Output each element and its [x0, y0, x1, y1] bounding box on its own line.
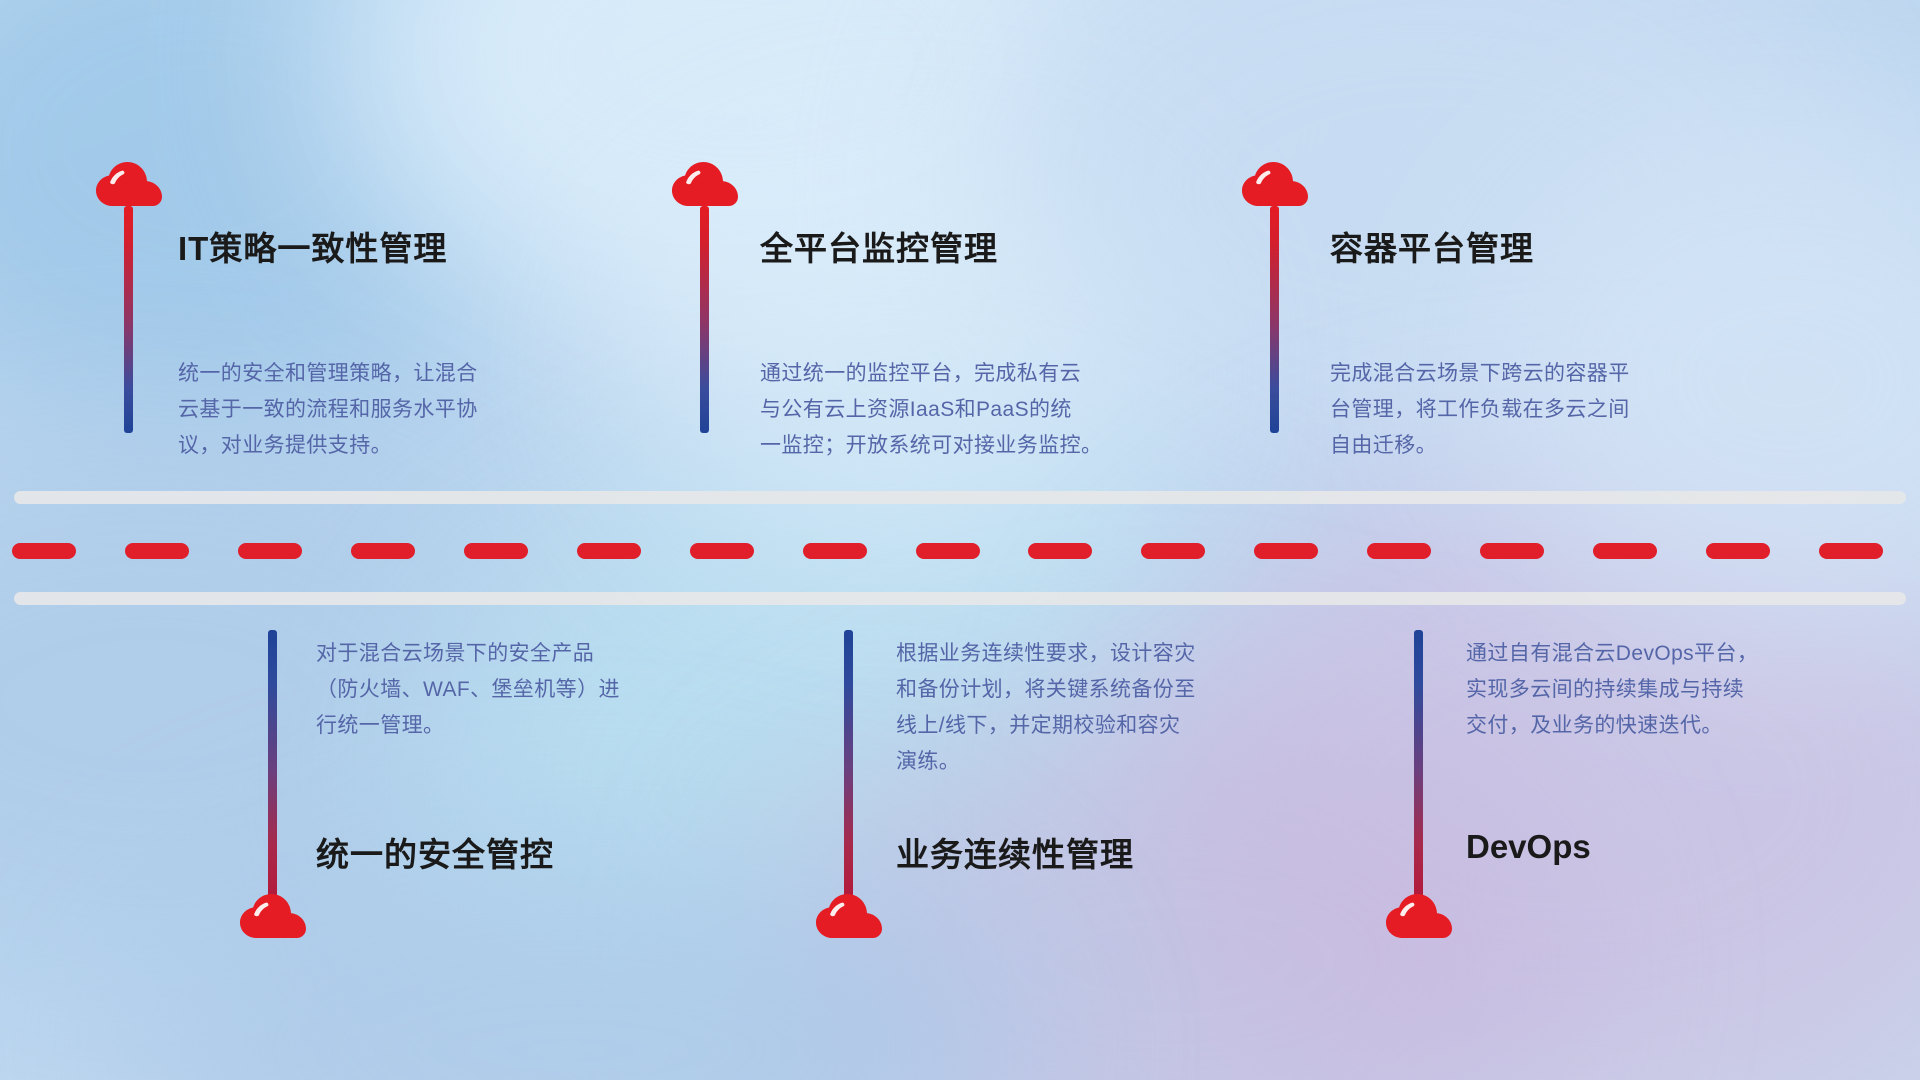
- road-dash: [1480, 543, 1544, 559]
- paragraph-line: 线上/线下，并定期校验和容灾: [896, 708, 1196, 744]
- paragraph-line: 自由迁移。: [1330, 428, 1630, 464]
- paragraph-line: 通过统一的监控平台，完成私有云: [760, 356, 1102, 392]
- paragraph-line: 一监控；开放系统可对接业务监控。: [760, 428, 1102, 464]
- top-item-3-paragraph: 完成混合云场景下跨云的容器平 台管理，将工作负载在多云之间 自由迁移。: [1330, 356, 1630, 464]
- paragraph-line: 统一的安全和管理策略，让混合: [178, 356, 478, 392]
- bottom-item-2-title: 业务连续性管理: [896, 828, 1134, 876]
- top-item-3-title: 容器平台管理: [1330, 222, 1534, 270]
- paragraph-line: 演练。: [896, 744, 1196, 780]
- road-dash: [1141, 543, 1205, 559]
- road-dash: [1819, 543, 1883, 559]
- road-dash: [916, 543, 980, 559]
- paragraph-line: （防火墙、WAF、堡垒机等）进: [316, 672, 620, 708]
- road-dash: [1593, 543, 1657, 559]
- pin-stem: [844, 630, 853, 899]
- cloud-icon: [240, 894, 306, 940]
- road-dash: [1028, 543, 1092, 559]
- road-dashes: [0, 543, 1920, 559]
- bottom-item-2-paragraph: 根据业务连续性要求，设计容灾 和备份计划，将关键系统备份至 线上/线下，并定期校…: [896, 636, 1196, 780]
- cloud-icon: [672, 162, 738, 208]
- top-item-1-paragraph: 统一的安全和管理策略，让混合 云基于一致的流程和服务水平协 议，对业务提供支持。: [178, 356, 478, 464]
- paragraph-line: 云基于一致的流程和服务水平协: [178, 392, 478, 428]
- paragraph-line: 实现多云间的持续集成与持续: [1466, 672, 1758, 708]
- road-dash: [125, 543, 189, 559]
- pin-stem: [268, 630, 277, 899]
- road-rail-bottom: [14, 592, 1906, 605]
- road-dash: [1367, 543, 1431, 559]
- pin-stem: [700, 206, 709, 433]
- road-rail-top: [14, 491, 1906, 504]
- paragraph-line: 台管理，将工作负载在多云之间: [1330, 392, 1630, 428]
- cloud-icon: [96, 162, 162, 208]
- paragraph-line: 行统一管理。: [316, 708, 620, 744]
- road-dash: [690, 543, 754, 559]
- paragraph-line: 和备份计划，将关键系统备份至: [896, 672, 1196, 708]
- infographic-canvas: IT策略一致性管理 统一的安全和管理策略，让混合 云基于一致的流程和服务水平协 …: [0, 0, 1920, 1080]
- paragraph-line: 完成混合云场景下跨云的容器平: [1330, 356, 1630, 392]
- pin-stem: [1270, 206, 1279, 433]
- road-dash: [351, 543, 415, 559]
- bottom-item-1-title: 统一的安全管控: [316, 828, 554, 876]
- road-dash: [12, 543, 76, 559]
- paragraph-line: 通过自有混合云DevOps平台，: [1466, 636, 1758, 672]
- top-item-2-paragraph: 通过统一的监控平台，完成私有云 与公有云上资源IaaS和PaaS的统 一监控；开…: [760, 356, 1102, 464]
- paragraph-line: 根据业务连续性要求，设计容灾: [896, 636, 1196, 672]
- road-dash: [238, 543, 302, 559]
- top-item-1-title: IT策略一致性管理: [178, 222, 447, 270]
- pin-stem: [124, 206, 133, 433]
- cloud-icon: [816, 894, 882, 940]
- paragraph-line: 交付，及业务的快速迭代。: [1466, 708, 1758, 744]
- paragraph-line: 与公有云上资源IaaS和PaaS的统: [760, 392, 1102, 428]
- road-dash: [1706, 543, 1770, 559]
- pin-stem: [1414, 630, 1423, 899]
- road-dash: [803, 543, 867, 559]
- cloud-icon: [1242, 162, 1308, 208]
- cloud-icon: [1386, 894, 1452, 940]
- paragraph-line: 对于混合云场景下的安全产品: [316, 636, 620, 672]
- bottom-item-3-paragraph: 通过自有混合云DevOps平台， 实现多云间的持续集成与持续 交付，及业务的快速…: [1466, 636, 1758, 744]
- paragraph-line: 议，对业务提供支持。: [178, 428, 478, 464]
- road-dash: [1254, 543, 1318, 559]
- road-dash: [577, 543, 641, 559]
- road-dash: [464, 543, 528, 559]
- bottom-item-3-title: DevOps: [1466, 828, 1591, 866]
- bottom-item-1-paragraph: 对于混合云场景下的安全产品 （防火墙、WAF、堡垒机等）进 行统一管理。: [316, 636, 620, 744]
- top-item-2-title: 全平台监控管理: [760, 222, 998, 270]
